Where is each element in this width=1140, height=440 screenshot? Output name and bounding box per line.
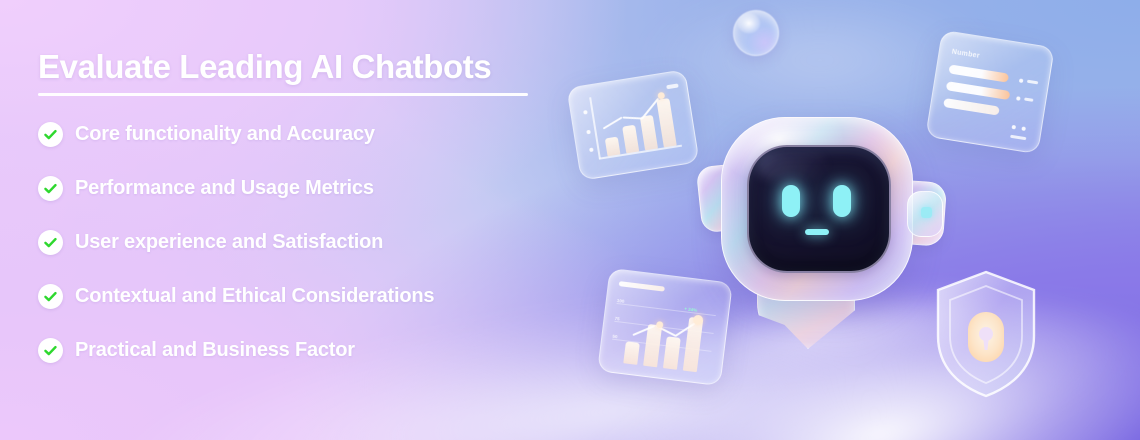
security-shield xyxy=(930,268,1042,400)
list-item-label: Performance and Usage Metrics xyxy=(75,177,374,200)
list-card-row xyxy=(946,81,1011,100)
robot-right-ear-chip xyxy=(921,207,932,218)
list-item: User experience and Satisfaction xyxy=(38,226,558,260)
list-card-pip xyxy=(1012,125,1017,130)
title-underline xyxy=(38,93,528,96)
list-card-tick xyxy=(1024,97,1033,101)
list-item-label: Contextual and Ethical Considerations xyxy=(75,285,434,308)
axis-pip xyxy=(583,110,588,115)
banner-text-block: Evaluate Leading AI Chatbots Core functi… xyxy=(38,48,558,388)
promo-banner: Evaluate Leading AI Chatbots Core functi… xyxy=(0,0,1140,440)
list-item: Practical and Business Factor xyxy=(38,334,558,368)
axis-pip xyxy=(589,148,594,153)
dash-title-bar xyxy=(619,281,665,292)
list-item: Contextual and Ethical Considerations xyxy=(38,280,558,314)
robot-left-eye xyxy=(782,185,800,217)
banner-artwork: 100 75 50 + 24% Number xyxy=(545,0,1140,440)
list-item: Performance and Usage Metrics xyxy=(38,172,558,206)
chart-tick xyxy=(666,83,678,89)
chart-bar xyxy=(605,137,621,157)
chart-bar xyxy=(622,125,639,154)
dash-axis-label: 50 xyxy=(612,334,618,340)
dash-bar xyxy=(623,341,640,365)
robot-mouth xyxy=(805,229,829,235)
list-item-label: User experience and Satisfaction xyxy=(75,231,383,254)
list-item-label: Core functionality and Accuracy xyxy=(75,123,375,146)
dash-axis-label: 100 xyxy=(617,298,625,304)
ai-chatbot-robot xyxy=(695,95,945,325)
list-card-row xyxy=(943,98,1000,116)
glass-chart-card xyxy=(566,69,699,181)
check-circle-icon xyxy=(38,230,63,255)
floating-sphere xyxy=(733,10,779,56)
padlock-keyhole-icon xyxy=(968,312,1004,362)
page-title: Evaluate Leading AI Chatbots xyxy=(38,48,558,86)
feature-list: Core functionality and Accuracy Performa… xyxy=(38,118,558,368)
list-card-row xyxy=(948,64,1009,82)
chart-trend-line xyxy=(623,117,643,120)
list-card-tick xyxy=(1027,80,1038,85)
list-item-label: Practical and Business Factor xyxy=(75,339,355,362)
chart-trend-line xyxy=(603,117,623,130)
axis-pip xyxy=(586,130,591,135)
robot-right-eye xyxy=(833,185,851,217)
check-circle-icon xyxy=(38,176,63,201)
check-circle-icon xyxy=(38,284,63,309)
robot-face-screen xyxy=(747,145,891,273)
check-circle-icon xyxy=(38,338,63,363)
list-item: Core functionality and Accuracy xyxy=(38,118,558,152)
dash-bar xyxy=(663,336,681,369)
list-card-pip xyxy=(1021,126,1026,131)
check-circle-icon xyxy=(38,122,63,147)
list-card-tick xyxy=(1010,135,1026,140)
list-card-pip xyxy=(1019,78,1024,83)
chart-bar xyxy=(640,115,658,151)
list-card-pip xyxy=(1016,96,1021,101)
chart-bar xyxy=(656,98,676,147)
list-card-heading: Number xyxy=(951,49,980,60)
dash-axis-label: 75 xyxy=(614,316,620,322)
shield-graphic xyxy=(930,268,1042,400)
